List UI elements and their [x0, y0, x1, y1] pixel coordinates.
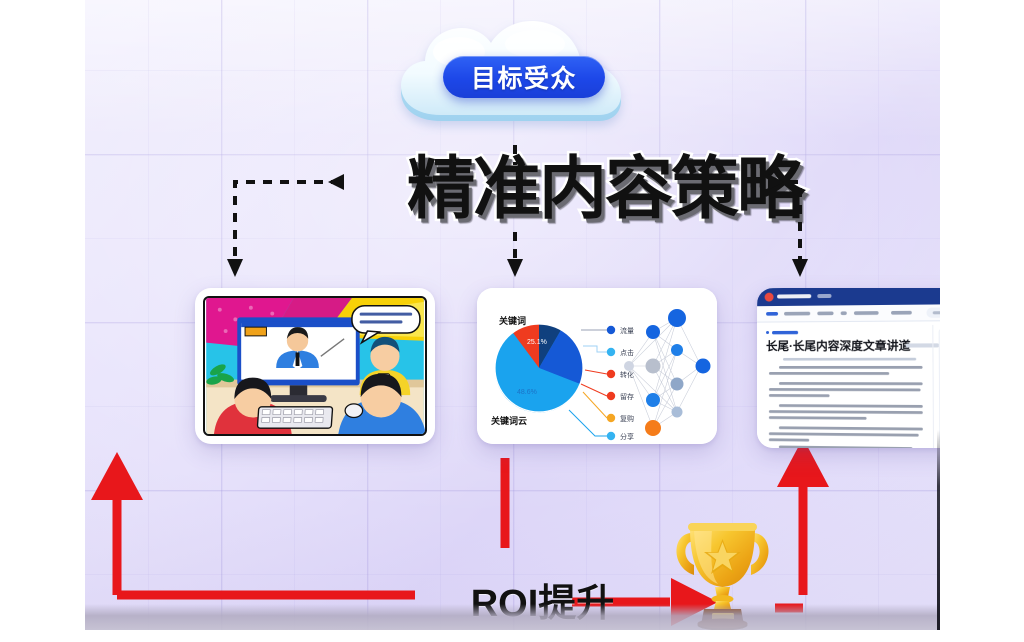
- svg-text:转化: 转化: [620, 370, 634, 379]
- pie-chart-neural-network: 25.1% 48.6% 关键词 关键词云: [477, 288, 717, 444]
- browser-article-mockup: 长尾·长尾内容深度文章讲道: [757, 288, 940, 448]
- pie-label-bottom: 关键词云: [491, 415, 527, 426]
- svg-text:留存: 留存: [620, 392, 634, 401]
- svg-text:点击: 点击: [620, 348, 634, 357]
- floor-shadow: [85, 604, 940, 630]
- card-audience-meeting[interactable]: [195, 288, 435, 444]
- card-article-page[interactable]: 长尾·长尾内容深度文章讲道: [757, 288, 940, 448]
- red-arrowhead-up-left: [91, 452, 143, 500]
- infographic-canvas: 目标受众 精准内容策略: [85, 0, 940, 630]
- card-data-analysis[interactable]: 25.1% 48.6% 关键词 关键词云: [477, 288, 717, 444]
- svg-text:分享: 分享: [620, 432, 634, 441]
- svg-text:流量: 流量: [620, 326, 634, 335]
- article-headline: 长尾·长尾内容深度文章讲道: [766, 338, 911, 353]
- right-edge-shadow: [937, 430, 940, 630]
- svg-text:复购: 复购: [620, 414, 634, 423]
- svg-text:25.1%: 25.1%: [527, 339, 547, 346]
- pie-label-top: 关键词: [499, 315, 526, 326]
- comic-illustration: [203, 296, 427, 436]
- infographic-root: 目标受众 精准内容策略: [0, 0, 1024, 642]
- svg-text:48.6%: 48.6%: [517, 389, 537, 396]
